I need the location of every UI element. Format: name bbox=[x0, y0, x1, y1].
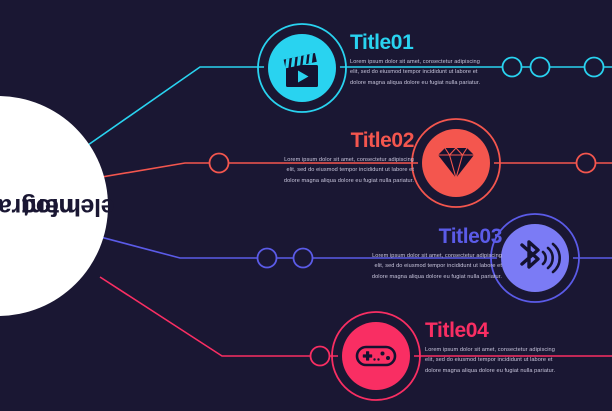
title-1: Title01 bbox=[350, 32, 482, 53]
title-2: Title02 bbox=[282, 130, 414, 151]
icon-circle-1[interactable] bbox=[258, 24, 346, 112]
infographic-canvas: Infographicelement Title01 Lorem ipsum d… bbox=[0, 0, 612, 411]
title-3: Title03 bbox=[370, 226, 502, 247]
connector-node-3a bbox=[258, 249, 277, 268]
icon-circle-4[interactable] bbox=[332, 312, 420, 400]
text-block-1: Title01 Lorem ipsum dolor sit amet, cons… bbox=[350, 32, 482, 88]
text-block-4: Title04 Lorem ipsum dolor sit amet, cons… bbox=[425, 320, 557, 376]
connector-node-1c bbox=[585, 58, 604, 77]
body-1: Lorem ipsum dolor sit amet, consectetur … bbox=[350, 57, 482, 88]
title-4: Title04 bbox=[425, 320, 557, 341]
icon-disc-4 bbox=[342, 322, 410, 390]
body-4: Lorem ipsum dolor sit amet, consectetur … bbox=[425, 345, 557, 376]
connector-node-1a bbox=[503, 58, 522, 77]
connector-node-2a bbox=[210, 154, 229, 173]
body-2: Lorem ipsum dolor sit amet, consectetur … bbox=[282, 155, 414, 186]
text-block-2: Title02 Lorem ipsum dolor sit amet, cons… bbox=[282, 130, 414, 186]
text-block-3: Title03 Lorem ipsum dolor sit amet, cons… bbox=[370, 226, 502, 282]
connector-node-3b bbox=[294, 249, 313, 268]
icon-circle-3[interactable] bbox=[491, 214, 579, 302]
body-3: Lorem ipsum dolor sit amet, consectetur … bbox=[370, 251, 502, 282]
connector-node-1b bbox=[531, 58, 550, 77]
connector-node-2b bbox=[577, 154, 596, 173]
icon-circle-2[interactable] bbox=[412, 119, 500, 207]
main-circle bbox=[0, 96, 108, 316]
connector-node-4a bbox=[311, 347, 330, 366]
